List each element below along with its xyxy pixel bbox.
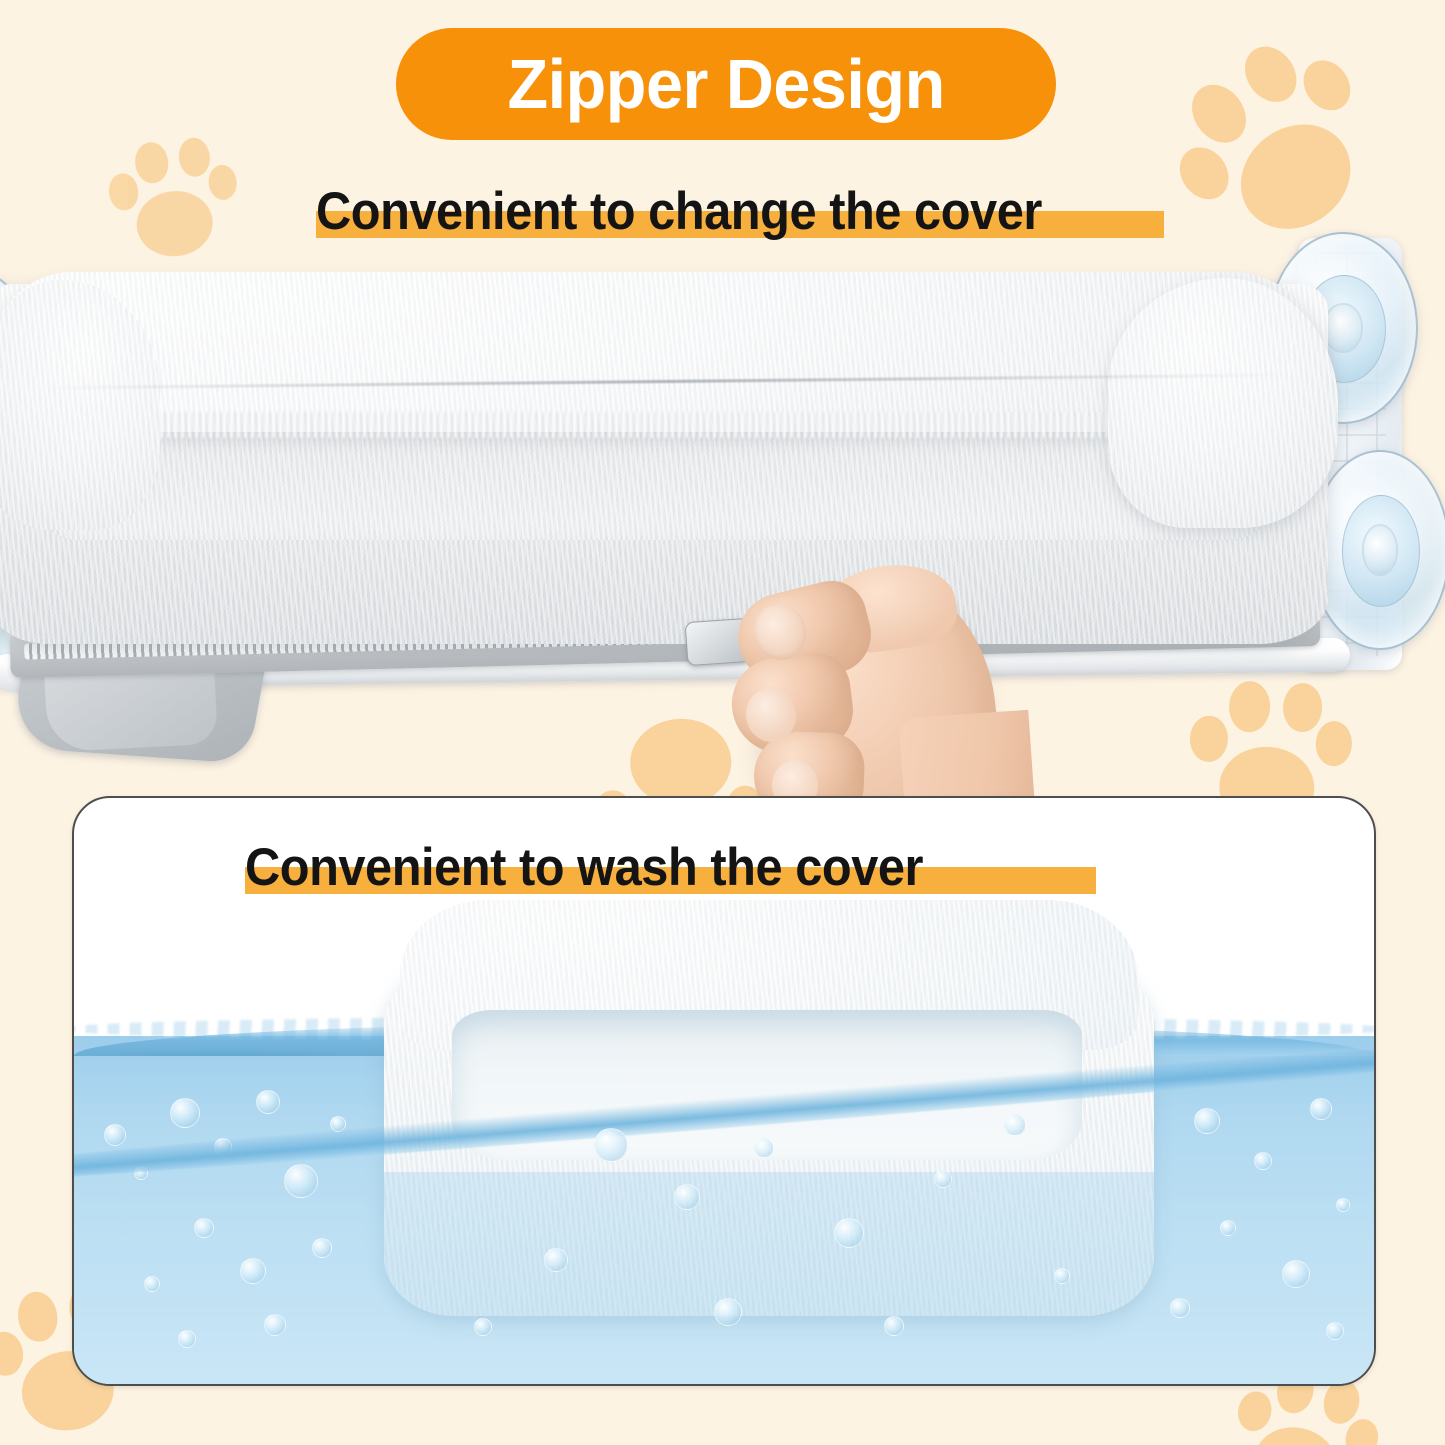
bubble <box>1220 1220 1236 1236</box>
wash-cover-card: Convenient to wash the cover <box>72 796 1376 1386</box>
bubble <box>1282 1260 1310 1288</box>
bubble <box>312 1238 332 1258</box>
heading-change-cover-text: Convenient to change the cover <box>316 184 1042 240</box>
bubble <box>544 1248 568 1272</box>
bubble <box>474 1318 492 1336</box>
fur-texture-end-right <box>1108 278 1338 528</box>
submerged-tint <box>384 1172 1154 1316</box>
bubble <box>714 1298 742 1326</box>
bubble <box>1194 1108 1220 1134</box>
bubble <box>1336 1198 1350 1212</box>
bubble <box>1310 1098 1332 1120</box>
bubble <box>264 1314 286 1336</box>
suction-cup-icon-bottom-right <box>1310 450 1445 650</box>
bubble <box>1326 1322 1344 1340</box>
bubble <box>144 1276 160 1292</box>
bubble <box>674 1184 700 1210</box>
bubble <box>178 1330 196 1348</box>
heading-wash-cover: Convenient to wash the cover <box>245 840 982 896</box>
bubble <box>170 1098 200 1128</box>
bubble <box>284 1164 318 1198</box>
bubble <box>1170 1298 1190 1318</box>
bubble <box>1004 1114 1026 1136</box>
bubble <box>754 1138 774 1158</box>
title-badge: Zipper Design <box>396 28 1056 140</box>
bubble <box>194 1218 214 1238</box>
bubble <box>884 1316 904 1336</box>
title-badge-label: Zipper Design <box>507 49 944 119</box>
infographic-page: Zipper Design Convenient to change the c… <box>0 0 1445 1445</box>
photo-change-cover: . <box>0 228 1445 788</box>
bubble <box>240 1258 266 1284</box>
heading-wash-cover-text: Convenient to wash the cover <box>245 840 923 896</box>
bubble <box>1054 1268 1070 1284</box>
plush-bolster-end-right <box>1108 278 1338 528</box>
heading-change-cover: Convenient to change the cover <box>316 184 1105 240</box>
bubble <box>104 1124 126 1146</box>
bubble <box>594 1128 628 1162</box>
bubble <box>934 1170 952 1188</box>
bubble <box>834 1218 864 1248</box>
bubble <box>1254 1152 1272 1170</box>
bubble <box>256 1090 280 1114</box>
